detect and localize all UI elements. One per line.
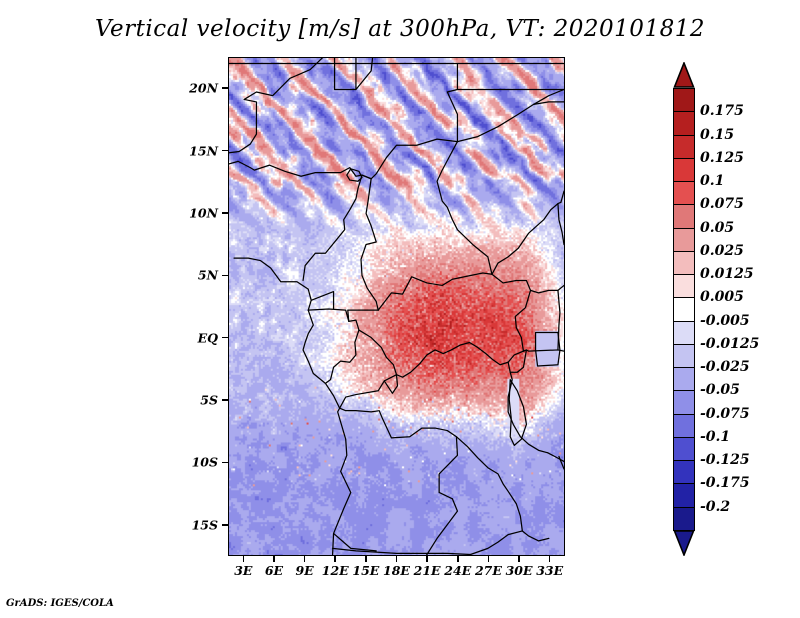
colorbar-tick-label-0: 0.175	[700, 103, 744, 119]
colorbar-tick-label-4: 0.075	[700, 196, 744, 212]
colorbar-tick-label-14: -0.1	[700, 429, 730, 445]
colorbar-swatch-3	[673, 158, 695, 183]
lat-tick-label-10S: 10S	[170, 455, 218, 470]
lon-tick-mark	[334, 556, 336, 562]
colorbar-swatch-6	[673, 228, 695, 253]
lon-tick-label-24E: 24E	[444, 563, 471, 578]
lat-tick-label-5N: 5N	[170, 268, 218, 283]
lon-tick-mark	[396, 556, 398, 562]
lon-tick-label-30E: 30E	[506, 563, 533, 578]
lon-tick-label-21E: 21E	[414, 563, 441, 578]
colorbar	[673, 62, 695, 556]
colorbar-swatch-17	[673, 483, 695, 508]
lon-tick-label-12E: 12E	[322, 563, 349, 578]
lon-tick-label-15E: 15E	[352, 563, 379, 578]
colorbar-swatch-13	[673, 390, 695, 415]
colorbar-swatch-0	[673, 88, 695, 113]
lon-tick-label-18E: 18E	[383, 563, 410, 578]
lat-tick-mark	[222, 524, 228, 526]
lon-tick-label-3E: 3E	[234, 563, 252, 578]
colorbar-tick-label-7: 0.0125	[700, 266, 754, 282]
colorbar-swatch-10	[673, 321, 695, 346]
lat-tick-label-EQ: EQ	[170, 330, 218, 345]
colorbar-swatch-7	[673, 251, 695, 276]
colorbar-tick-label-13: -0.075	[700, 406, 750, 422]
colorbar-tick-label-16: -0.175	[700, 475, 750, 491]
lon-tick-mark	[273, 556, 275, 562]
lat-tick-mark	[222, 150, 228, 152]
lon-tick-label-6E: 6E	[265, 563, 283, 578]
lon-tick-mark	[304, 556, 306, 562]
colorbar-swatch-15	[673, 437, 695, 462]
lon-tick-mark	[457, 556, 459, 562]
colorbar-tick-label-10: -0.0125	[700, 336, 759, 352]
lon-tick-label-33E: 33E	[536, 563, 563, 578]
lon-tick-mark	[518, 556, 520, 562]
colorbar-tick-label-3: 0.1	[700, 173, 724, 189]
lat-tick-mark	[222, 212, 228, 214]
page-title: Vertical velocity [m/s] at 300hPa, VT: 2…	[0, 16, 800, 42]
lat-tick-label-20N: 20N	[170, 81, 218, 96]
colorbar-swatch-4	[673, 181, 695, 206]
lon-tick-mark	[549, 556, 551, 562]
map-plot-area	[228, 57, 565, 556]
vertical-velocity-heatmap	[229, 58, 564, 555]
lat-tick-label-15N: 15N	[170, 143, 218, 158]
lat-tick-label-10N: 10N	[170, 205, 218, 220]
lat-tick-mark	[222, 337, 228, 339]
colorbar-swatch-5	[673, 204, 695, 229]
colorbar-tick-label-5: 0.05	[700, 220, 734, 236]
lon-tick-mark	[488, 556, 490, 562]
grads-credit: GrADS: IGES/COLA	[6, 598, 114, 609]
colorbar-tick-label-15: -0.125	[700, 452, 750, 468]
colorbar-swatch-18	[673, 507, 695, 532]
colorbar-swatch-2	[673, 135, 695, 160]
colorbar-tick-label-11: -0.025	[700, 359, 750, 375]
colorbar-tick-label-9: -0.005	[700, 313, 750, 329]
colorbar-tick-label-8: 0.005	[700, 289, 744, 305]
lon-tick-mark	[243, 556, 245, 562]
colorbar-top-arrow	[673, 62, 695, 88]
lat-tick-mark	[222, 275, 228, 277]
lon-tick-mark	[426, 556, 428, 562]
lat-tick-mark	[222, 87, 228, 89]
colorbar-swatch-9	[673, 297, 695, 322]
colorbar-tick-label-2: 0.125	[700, 150, 744, 166]
lon-tick-label-27E: 27E	[475, 563, 502, 578]
lon-tick-mark	[365, 556, 367, 562]
lat-tick-label-5S: 5S	[170, 393, 218, 408]
colorbar-tick-label-17: -0.2	[700, 499, 730, 515]
colorbar-swatch-11	[673, 344, 695, 369]
colorbar-tick-label-1: 0.15	[700, 127, 734, 143]
lat-tick-mark	[222, 399, 228, 401]
colorbar-swatch-12	[673, 367, 695, 392]
colorbar-swatch-1	[673, 111, 695, 136]
lat-tick-label-15S: 15S	[170, 517, 218, 532]
colorbar-swatch-8	[673, 274, 695, 299]
colorbar-swatch-16	[673, 460, 695, 485]
colorbar-bottom-arrow	[673, 530, 695, 556]
colorbar-swatch-14	[673, 414, 695, 439]
colorbar-tick-label-12: -0.05	[700, 382, 740, 398]
lat-tick-mark	[222, 462, 228, 464]
colorbar-tick-label-6: 0.025	[700, 243, 744, 259]
lon-tick-label-9E: 9E	[295, 563, 313, 578]
